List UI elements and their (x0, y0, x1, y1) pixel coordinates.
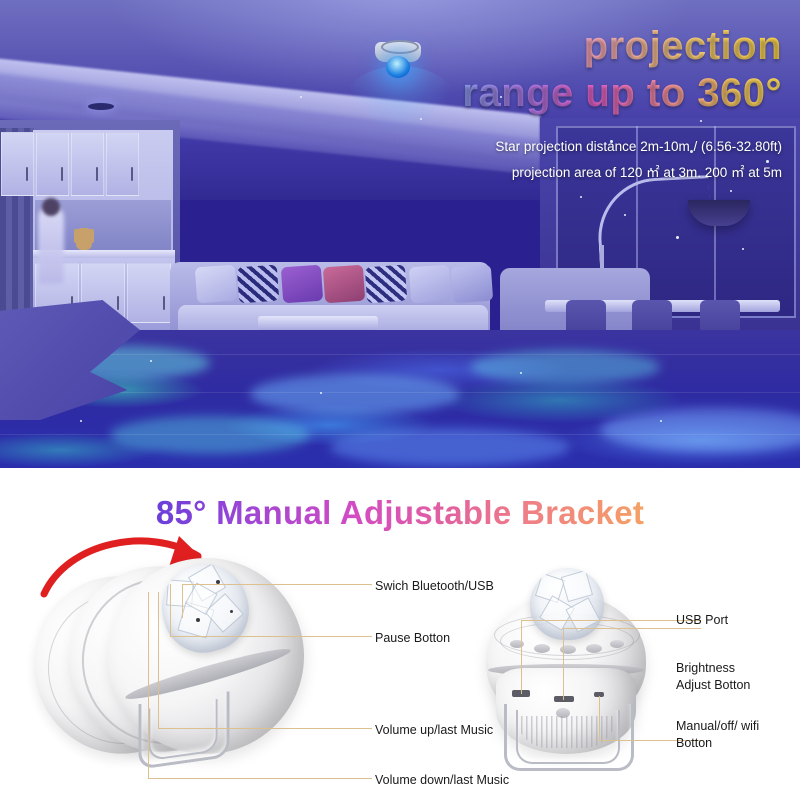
cabinet-door (106, 132, 139, 196)
leader-line (182, 584, 372, 585)
right-unit-group (480, 568, 680, 778)
leader-line (158, 592, 159, 728)
bracket-section: 85° Manual Adjustable Bracket (0, 468, 800, 800)
callout-label-brightness: Brightness Adjust Botton (676, 660, 750, 693)
leader-line (182, 584, 183, 618)
wire-stand-inner (516, 710, 620, 764)
headline-range: range up to 360° (462, 71, 782, 116)
floor-with-wave-projection (0, 330, 800, 468)
cabinet-row-upper (0, 131, 140, 197)
callout-label-volume-up: Volume up/last Music (375, 722, 493, 739)
pillow (409, 265, 451, 304)
teddy-bear (76, 228, 92, 250)
callout-label-switch: Swich Bluetooth/USB (375, 578, 494, 595)
callout-label-manual-wifi: Manual/off/ wifi Botton (676, 718, 759, 751)
lens-dot (196, 618, 200, 622)
pillow (451, 265, 493, 304)
room-scene-photo: projection range up to 360° Star project… (0, 0, 800, 468)
leader-line (170, 584, 171, 636)
cabinet-door (71, 132, 104, 196)
left-unit-group (30, 548, 360, 778)
cabinet-door (1, 132, 34, 196)
top-headline-group: projection range up to 360° (462, 24, 782, 116)
pillow (281, 265, 323, 304)
leader-line (521, 620, 701, 621)
subtitle-area: projection area of 120 ㎡ at 3m. 200 ㎡ at… (495, 160, 782, 186)
pillow (365, 265, 407, 304)
ceiling-projector-device (375, 38, 421, 72)
subtitle-group: Star projection distance 2m-10m / (6.56-… (495, 134, 782, 185)
pillow (237, 265, 279, 304)
leader-line (599, 696, 600, 740)
callout-brightness-line2: Adjust Botton (676, 677, 750, 694)
callout-manual-line2: Botton (676, 735, 759, 752)
cabinet-door (36, 132, 69, 196)
pillow (195, 265, 237, 304)
callout-manual-line1: Manual/off/ wifi (676, 718, 759, 735)
control-button[interactable] (586, 644, 602, 653)
headline-projection: projection (462, 24, 782, 69)
leader-line (170, 636, 372, 637)
cabinet-door (127, 263, 171, 323)
bracket-headline: 85° Manual Adjustable Bracket (0, 494, 800, 532)
control-button[interactable] (534, 644, 550, 653)
product-marketing-image: projection range up to 360° Star project… (0, 0, 800, 800)
projector-bracket (381, 40, 419, 54)
projector-dome-icon (386, 56, 410, 78)
leader-line (148, 592, 149, 778)
ceiling-downlight (88, 103, 114, 110)
leader-line (563, 628, 564, 700)
child-figure (38, 206, 64, 284)
lens-dot (230, 610, 233, 613)
control-button[interactable] (610, 640, 624, 648)
pillow (323, 265, 365, 304)
callout-brightness-line1: Brightness (676, 660, 750, 677)
callout-label-pause: Pause Botton (375, 630, 450, 647)
leader-line (521, 620, 522, 694)
callout-label-usb-port: USB Port (676, 612, 728, 629)
child-head (42, 198, 60, 216)
leader-line (158, 728, 372, 729)
subtitle-distance: Star projection distance 2m-10m / (6.56-… (495, 134, 782, 160)
leader-line (148, 778, 372, 779)
coffee-table (258, 316, 378, 330)
